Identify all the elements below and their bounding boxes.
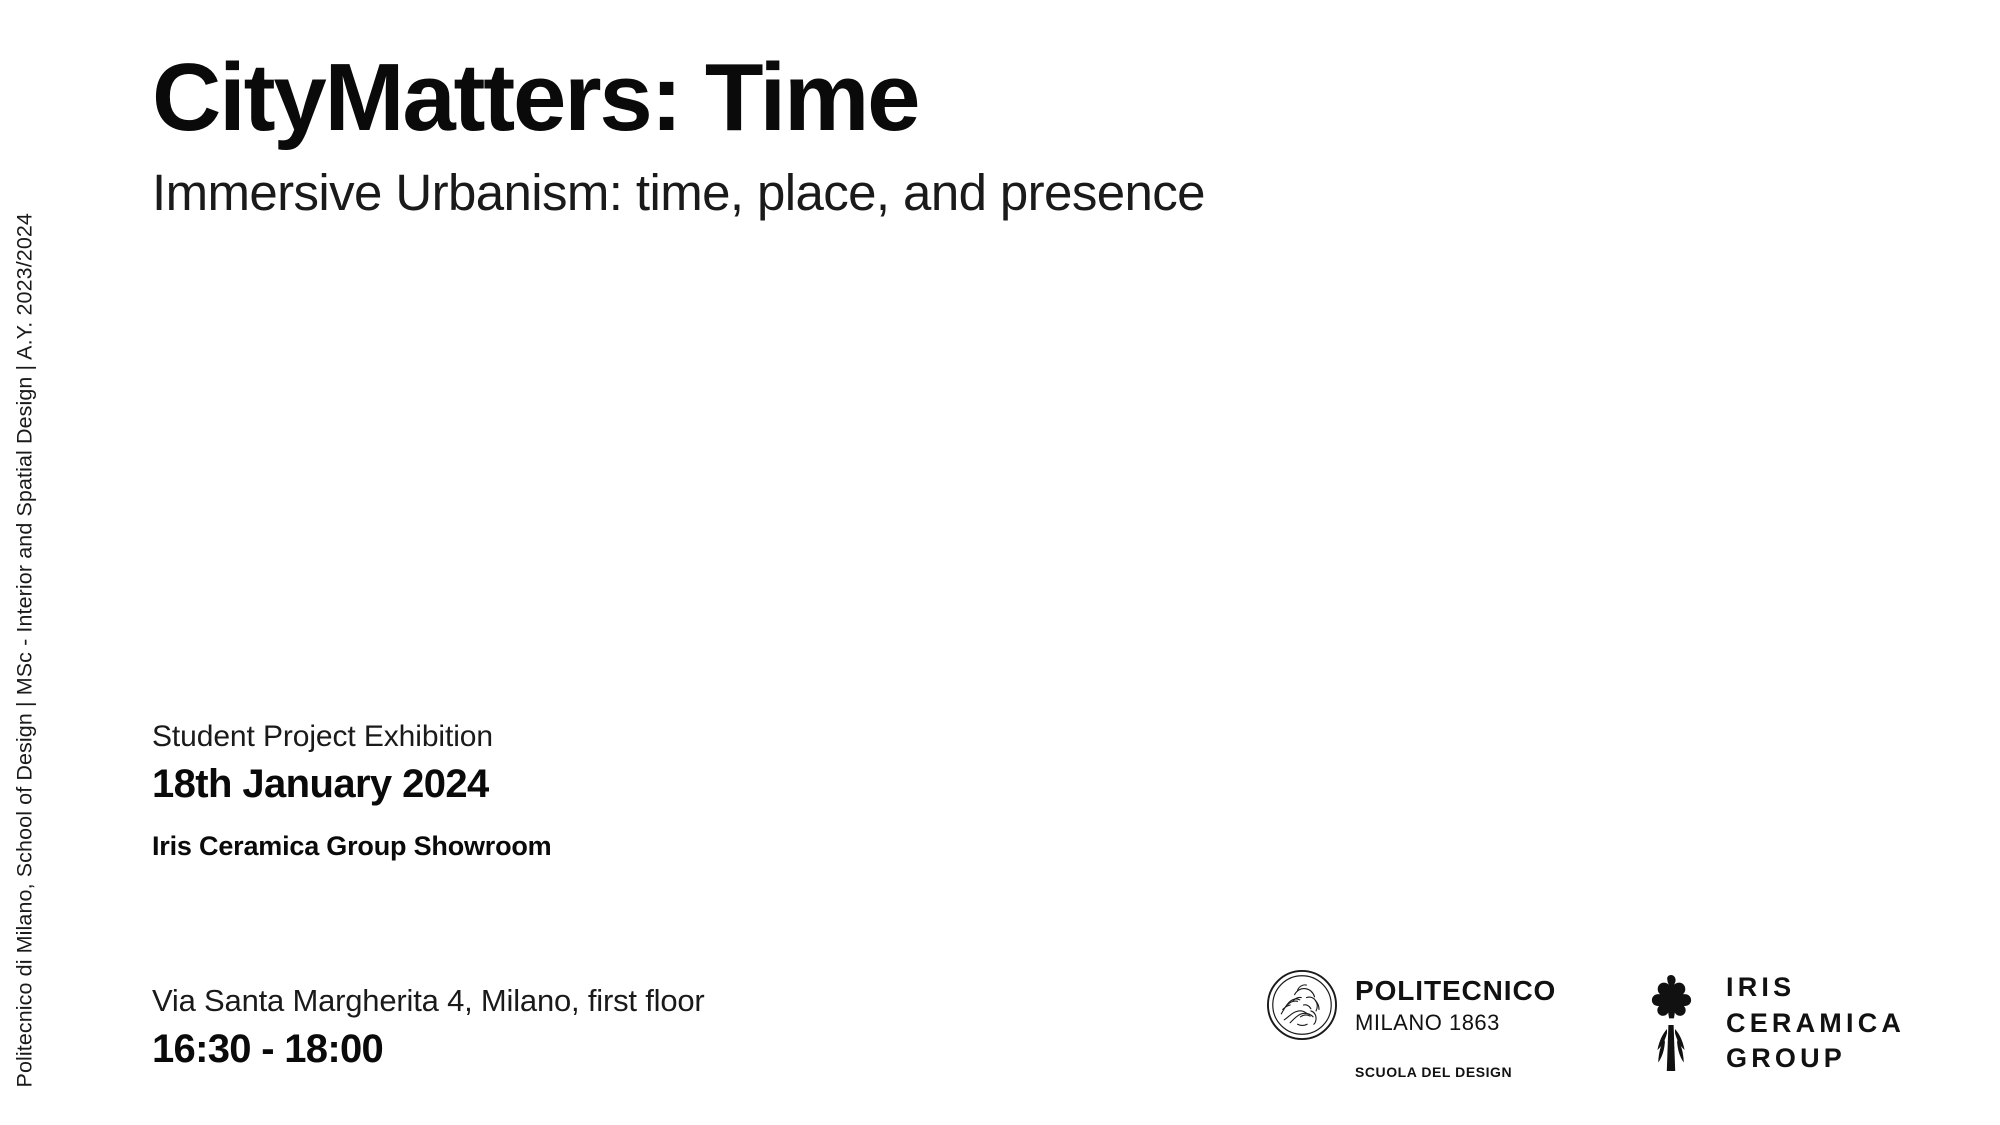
event-poster: Politecnico di Milano, School of Design … bbox=[0, 0, 2000, 1125]
event-details-block: Student Project Exhibition 18th January … bbox=[152, 718, 1152, 864]
politecnico-name: POLITECNICO bbox=[1355, 976, 1556, 1005]
event-venue: Iris Ceramica Group Showroom bbox=[152, 830, 1152, 864]
iris-wordmark: IRIS CERAMICA GROUP bbox=[1726, 970, 1905, 1077]
logo-row: POLITECNICO MILANO 1863 SCUOLA DEL DESIG… bbox=[1265, 968, 1965, 1098]
event-address: Via Santa Margherita 4, Milano, first fl… bbox=[152, 982, 1152, 1021]
iris-line-1: IRIS bbox=[1726, 970, 1905, 1006]
politecnico-wordmark: POLITECNICO MILANO 1863 bbox=[1355, 976, 1556, 1033]
iris-line-2: CERAMICA bbox=[1726, 1006, 1905, 1042]
page-title: CityMatters: Time bbox=[152, 48, 1852, 149]
politecnico-subtitle: MILANO 1863 bbox=[1355, 1011, 1556, 1034]
side-credit-text: Politecnico di Milano, School of Design … bbox=[15, 213, 37, 1088]
event-date: 18th January 2024 bbox=[152, 760, 1152, 809]
iris-ceramica-logo: IRIS CERAMICA GROUP bbox=[1640, 970, 1905, 1077]
politecnico-school-label: SCUOLA DEL DESIGN bbox=[1355, 1064, 1545, 1080]
politecnico-lockup: POLITECNICO MILANO 1863 bbox=[1265, 968, 1545, 1042]
poster-header: CityMatters: Time Immersive Urbanism: ti… bbox=[152, 48, 1852, 223]
page-subtitle: Immersive Urbanism: time, place, and pre… bbox=[152, 163, 1852, 223]
iris-line-3: GROUP bbox=[1726, 1041, 1905, 1077]
event-time: 16:30 - 18:00 bbox=[152, 1025, 1152, 1074]
address-block: Via Santa Margherita 4, Milano, first fl… bbox=[152, 982, 1152, 1074]
iris-flower-icon bbox=[1640, 973, 1702, 1073]
politecnico-logo: POLITECNICO MILANO 1863 SCUOLA DEL DESIG… bbox=[1265, 968, 1545, 1080]
polimi-seal-icon bbox=[1265, 968, 1339, 1042]
event-type-label: Student Project Exhibition bbox=[152, 718, 1152, 756]
